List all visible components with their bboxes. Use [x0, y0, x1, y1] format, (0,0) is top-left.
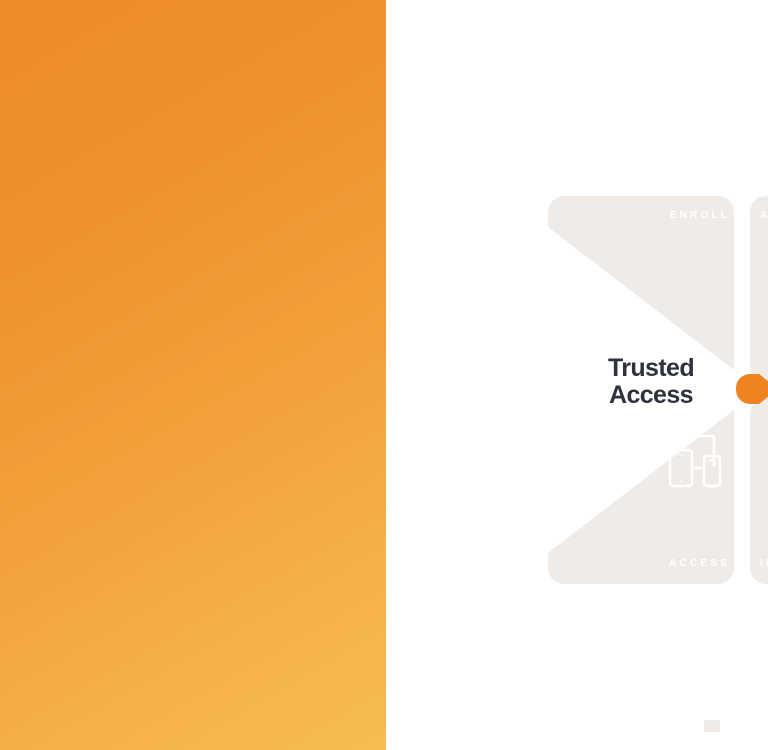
quadrant-label-access: ACCESS	[640, 558, 730, 569]
trusted-access-diagram: Trusted Access ENROLL A ACCESS ID	[548, 196, 768, 584]
center-wedge-right	[548, 584, 760, 750]
trusted-access-logo: Trusted Access	[566, 356, 736, 408]
quadrant-label-identity: ID	[760, 558, 768, 569]
quadrant-panel-adapt[interactable]	[750, 196, 768, 382]
quadrant-label-adapt: A	[760, 210, 768, 221]
headline-line-2: ess down time	[0, 326, 386, 400]
logo-line-access: Access	[566, 383, 736, 408]
globe-lock-icon	[670, 682, 728, 738]
headline-line-3: g, maintaining	[0, 400, 386, 474]
logo-line-trusted: Trusted	[608, 354, 694, 382]
headline-line-1: g threats	[0, 252, 386, 326]
orange-chevron-icon	[736, 374, 768, 404]
headline-line-4: ntegrity	[0, 474, 386, 548]
quadrant-label-enroll: ENROLL	[640, 210, 730, 221]
slide-canvas: g threats ess down time g, maintaining n…	[0, 0, 768, 750]
devices-icon	[666, 432, 728, 490]
orange-gradient-panel: g threats ess down time g, maintaining n…	[0, 0, 386, 750]
quadrant-panel-identity[interactable]	[750, 398, 768, 584]
headline-text-block: g threats ess down time g, maintaining n…	[0, 252, 386, 548]
